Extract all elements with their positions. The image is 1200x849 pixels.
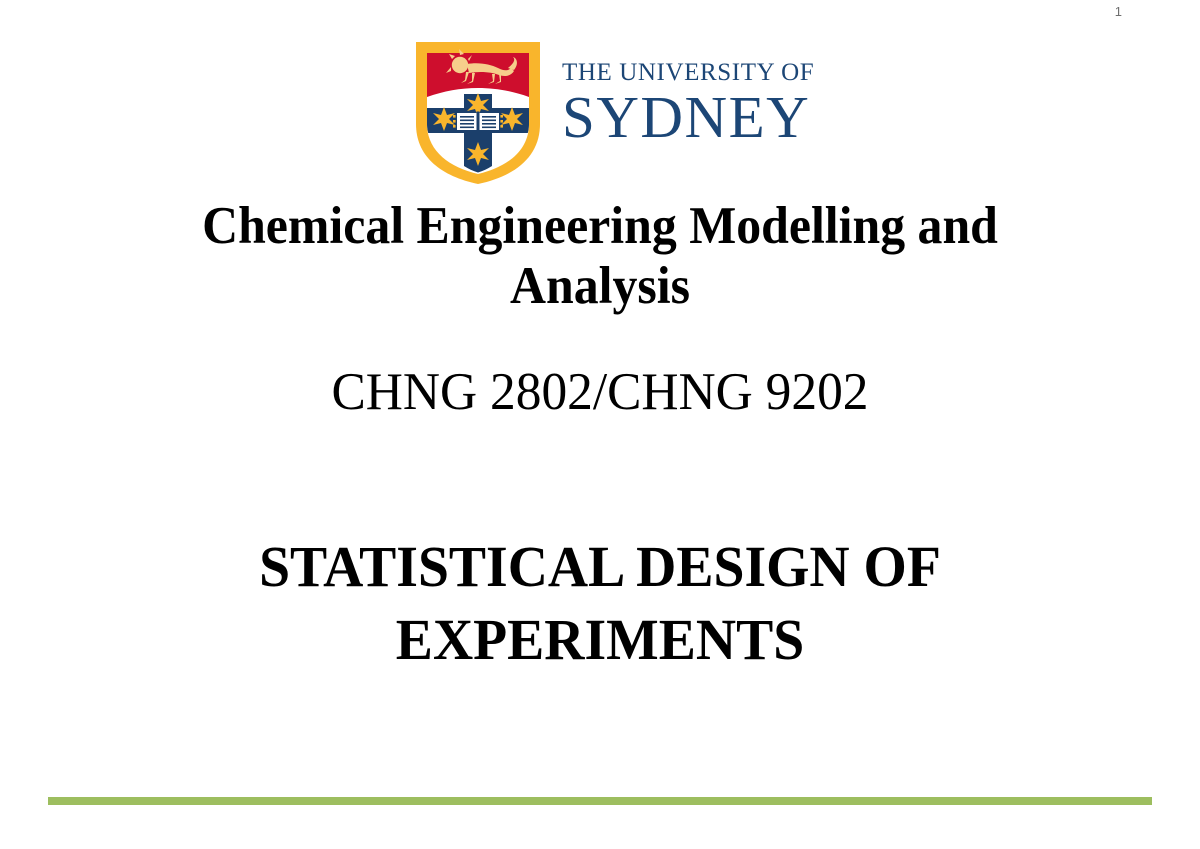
sydney-shield-icon (412, 38, 544, 186)
slide-number: 1 (1115, 5, 1122, 18)
slide-heading-line-1: STATISTICAL DESIGN OF (82, 531, 1119, 604)
course-code-text: CHNG 2802/CHNG 9202 (76, 362, 1124, 422)
course-code: CHNG 2802/CHNG 9202 (60, 362, 1140, 422)
wordmark-line-university: THE UNIVERSITY OF (562, 60, 814, 85)
slide-canvas: 1 (0, 0, 1200, 849)
course-title: Chemical Engineering Modelling and Analy… (60, 196, 1140, 317)
university-logo: THE UNIVERSITY OF SYDNEY (412, 38, 792, 188)
university-wordmark: THE UNIVERSITY OF SYDNEY (562, 38, 814, 147)
wordmark-line-sydney: SYDNEY (562, 88, 810, 147)
course-title-line-1: Chemical Engineering Modelling and (92, 196, 1107, 256)
slide-heading-line-2: EXPERIMENTS (82, 604, 1119, 677)
bottom-divider (48, 797, 1152, 805)
slide-heading: STATISTICAL DESIGN OF EXPERIMENTS (60, 531, 1140, 676)
course-title-line-2: Analysis (92, 256, 1107, 316)
